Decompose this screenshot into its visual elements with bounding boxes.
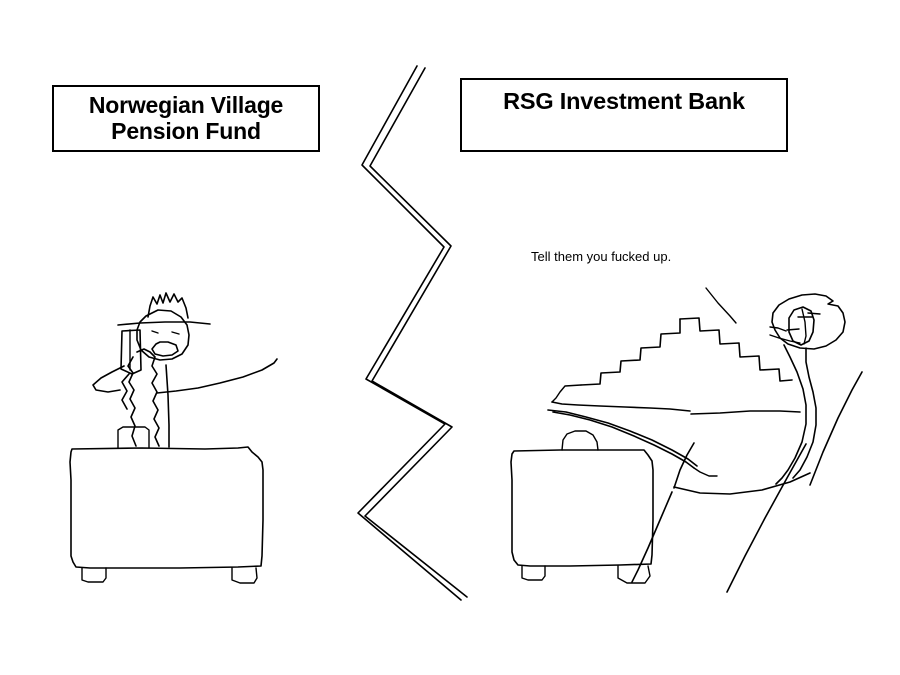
person-on-phone-relaxed-icon	[511, 288, 862, 592]
desk-object-right	[562, 431, 598, 450]
caption-leader-line	[706, 288, 736, 323]
desk-right	[511, 450, 653, 583]
feet-on-desk-right	[548, 410, 717, 476]
torso-right	[691, 345, 816, 484]
lightning-bolt-divider-icon	[358, 66, 467, 600]
chair-right	[632, 372, 862, 592]
comic-canvas: Norwegian Village Pension Fund RSG Inves…	[0, 0, 900, 675]
phone-handset-right	[789, 307, 820, 345]
comic-artwork	[0, 0, 900, 675]
arm-extended-left	[157, 359, 277, 393]
desk-left	[70, 447, 263, 583]
person-on-phone-shocked-icon	[70, 293, 277, 583]
head-right	[770, 294, 845, 349]
legs-right	[552, 318, 792, 411]
arm-phone-left	[93, 366, 129, 409]
head-left	[118, 293, 210, 360]
